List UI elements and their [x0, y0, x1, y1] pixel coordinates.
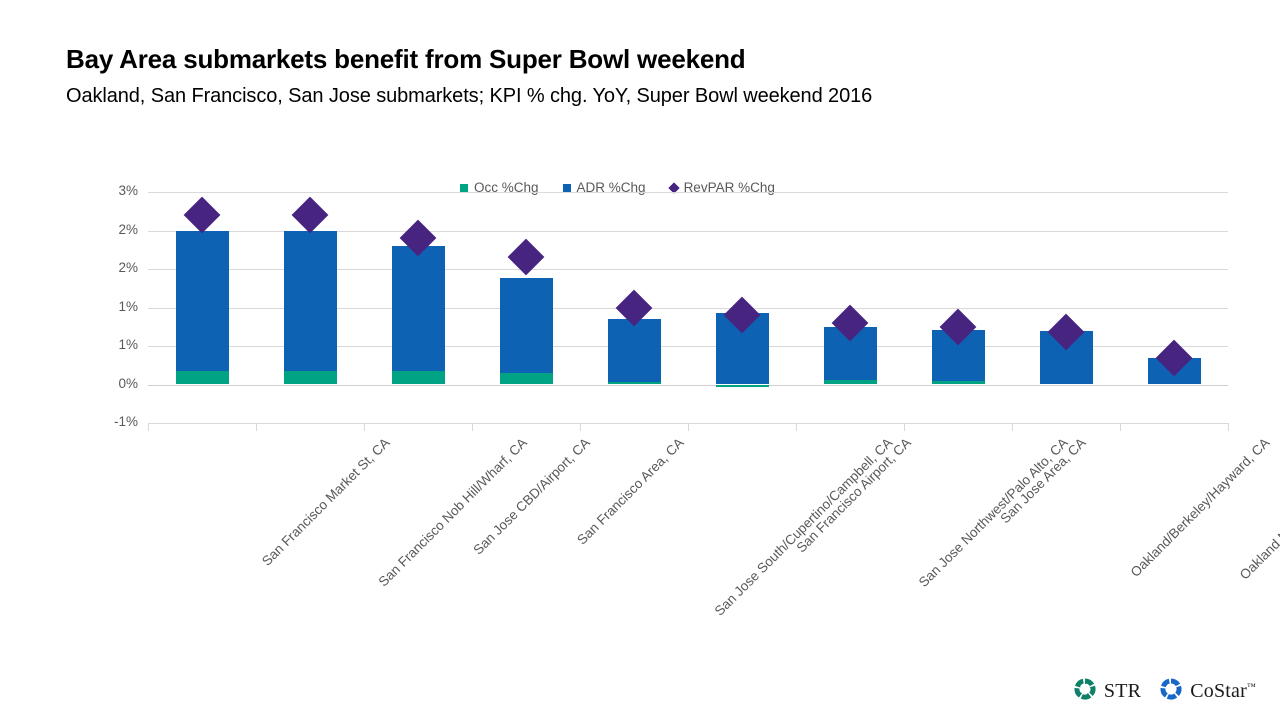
x-tick-mark [904, 423, 905, 431]
gridline [148, 192, 1228, 193]
bar-segment-occ[interactable] [284, 371, 337, 384]
str-logo-text: STR [1104, 680, 1141, 703]
str-logo: STR [1073, 677, 1141, 706]
bar-segment-occ[interactable] [716, 385, 769, 387]
y-axis-tick-label: 2% [96, 222, 138, 237]
y-axis-tick-label: 2% [96, 260, 138, 275]
plot-area [148, 192, 1228, 423]
x-tick-mark [1228, 423, 1229, 431]
x-axis-category-label: San Jose South/Cupertino/Campbell, CA [712, 435, 896, 619]
bar-segment-adr[interactable] [284, 231, 337, 372]
x-tick-mark [580, 423, 581, 431]
y-axis-tick-label: -1% [96, 414, 138, 429]
marker-revpar[interactable] [292, 197, 329, 234]
x-tick-mark [148, 423, 149, 431]
x-axis-category-label: San Francisco Market St, CA [259, 435, 393, 569]
x-axis-category-label: San Jose Northwest/Palo Alto, CA [916, 435, 1071, 590]
x-axis-category-label: San Jose CBD/Airport, CA [470, 435, 593, 558]
bar-segment-occ[interactable] [392, 371, 445, 385]
costar-logo-word: CoStar [1190, 680, 1247, 702]
bar-segment-adr[interactable] [392, 246, 445, 371]
y-axis-tick-label: 1% [96, 337, 138, 352]
y-axis-tick-label: 3% [96, 183, 138, 198]
x-tick-mark [256, 423, 257, 431]
x-tick-mark [472, 423, 473, 431]
bar-segment-adr[interactable] [608, 319, 661, 382]
bar-segment-occ[interactable] [824, 380, 877, 385]
bar-segment-occ[interactable] [500, 373, 553, 385]
bar-segment-occ[interactable] [608, 382, 661, 384]
y-axis-tick-label: 0% [96, 376, 138, 391]
bar-segment-adr[interactable] [176, 231, 229, 371]
x-axis-category-label: San Francisco Area, CA [574, 435, 686, 547]
x-tick-mark [796, 423, 797, 431]
costar-logo: CoStar™ [1159, 677, 1256, 706]
costar-pinwheel-icon [1159, 677, 1183, 706]
gridline [148, 385, 1228, 386]
x-tick-mark [688, 423, 689, 431]
costar-logo-text: CoStar™ [1190, 680, 1256, 703]
x-tick-mark [1120, 423, 1121, 431]
bar-segment-occ[interactable] [932, 381, 985, 384]
str-pinwheel-icon [1073, 677, 1097, 706]
marker-revpar[interactable] [184, 197, 221, 234]
x-axis-category-label: San Jose Area, CA [997, 435, 1088, 526]
x-axis-category-label: San Francisco Airport, CA [793, 435, 913, 555]
x-tick-mark [364, 423, 365, 431]
chart-canvas: 3%2%2%1%1%0%-1% San Francisco Market St,… [0, 0, 1280, 720]
costar-trademark: ™ [1247, 681, 1256, 691]
y-axis-tick-label: 1% [96, 299, 138, 314]
bar-segment-adr[interactable] [500, 278, 553, 373]
footer-logos: STR CoStar™ [1073, 677, 1256, 706]
x-tick-mark [1012, 423, 1013, 431]
marker-revpar[interactable] [508, 239, 545, 276]
bar-segment-occ[interactable] [176, 371, 229, 385]
